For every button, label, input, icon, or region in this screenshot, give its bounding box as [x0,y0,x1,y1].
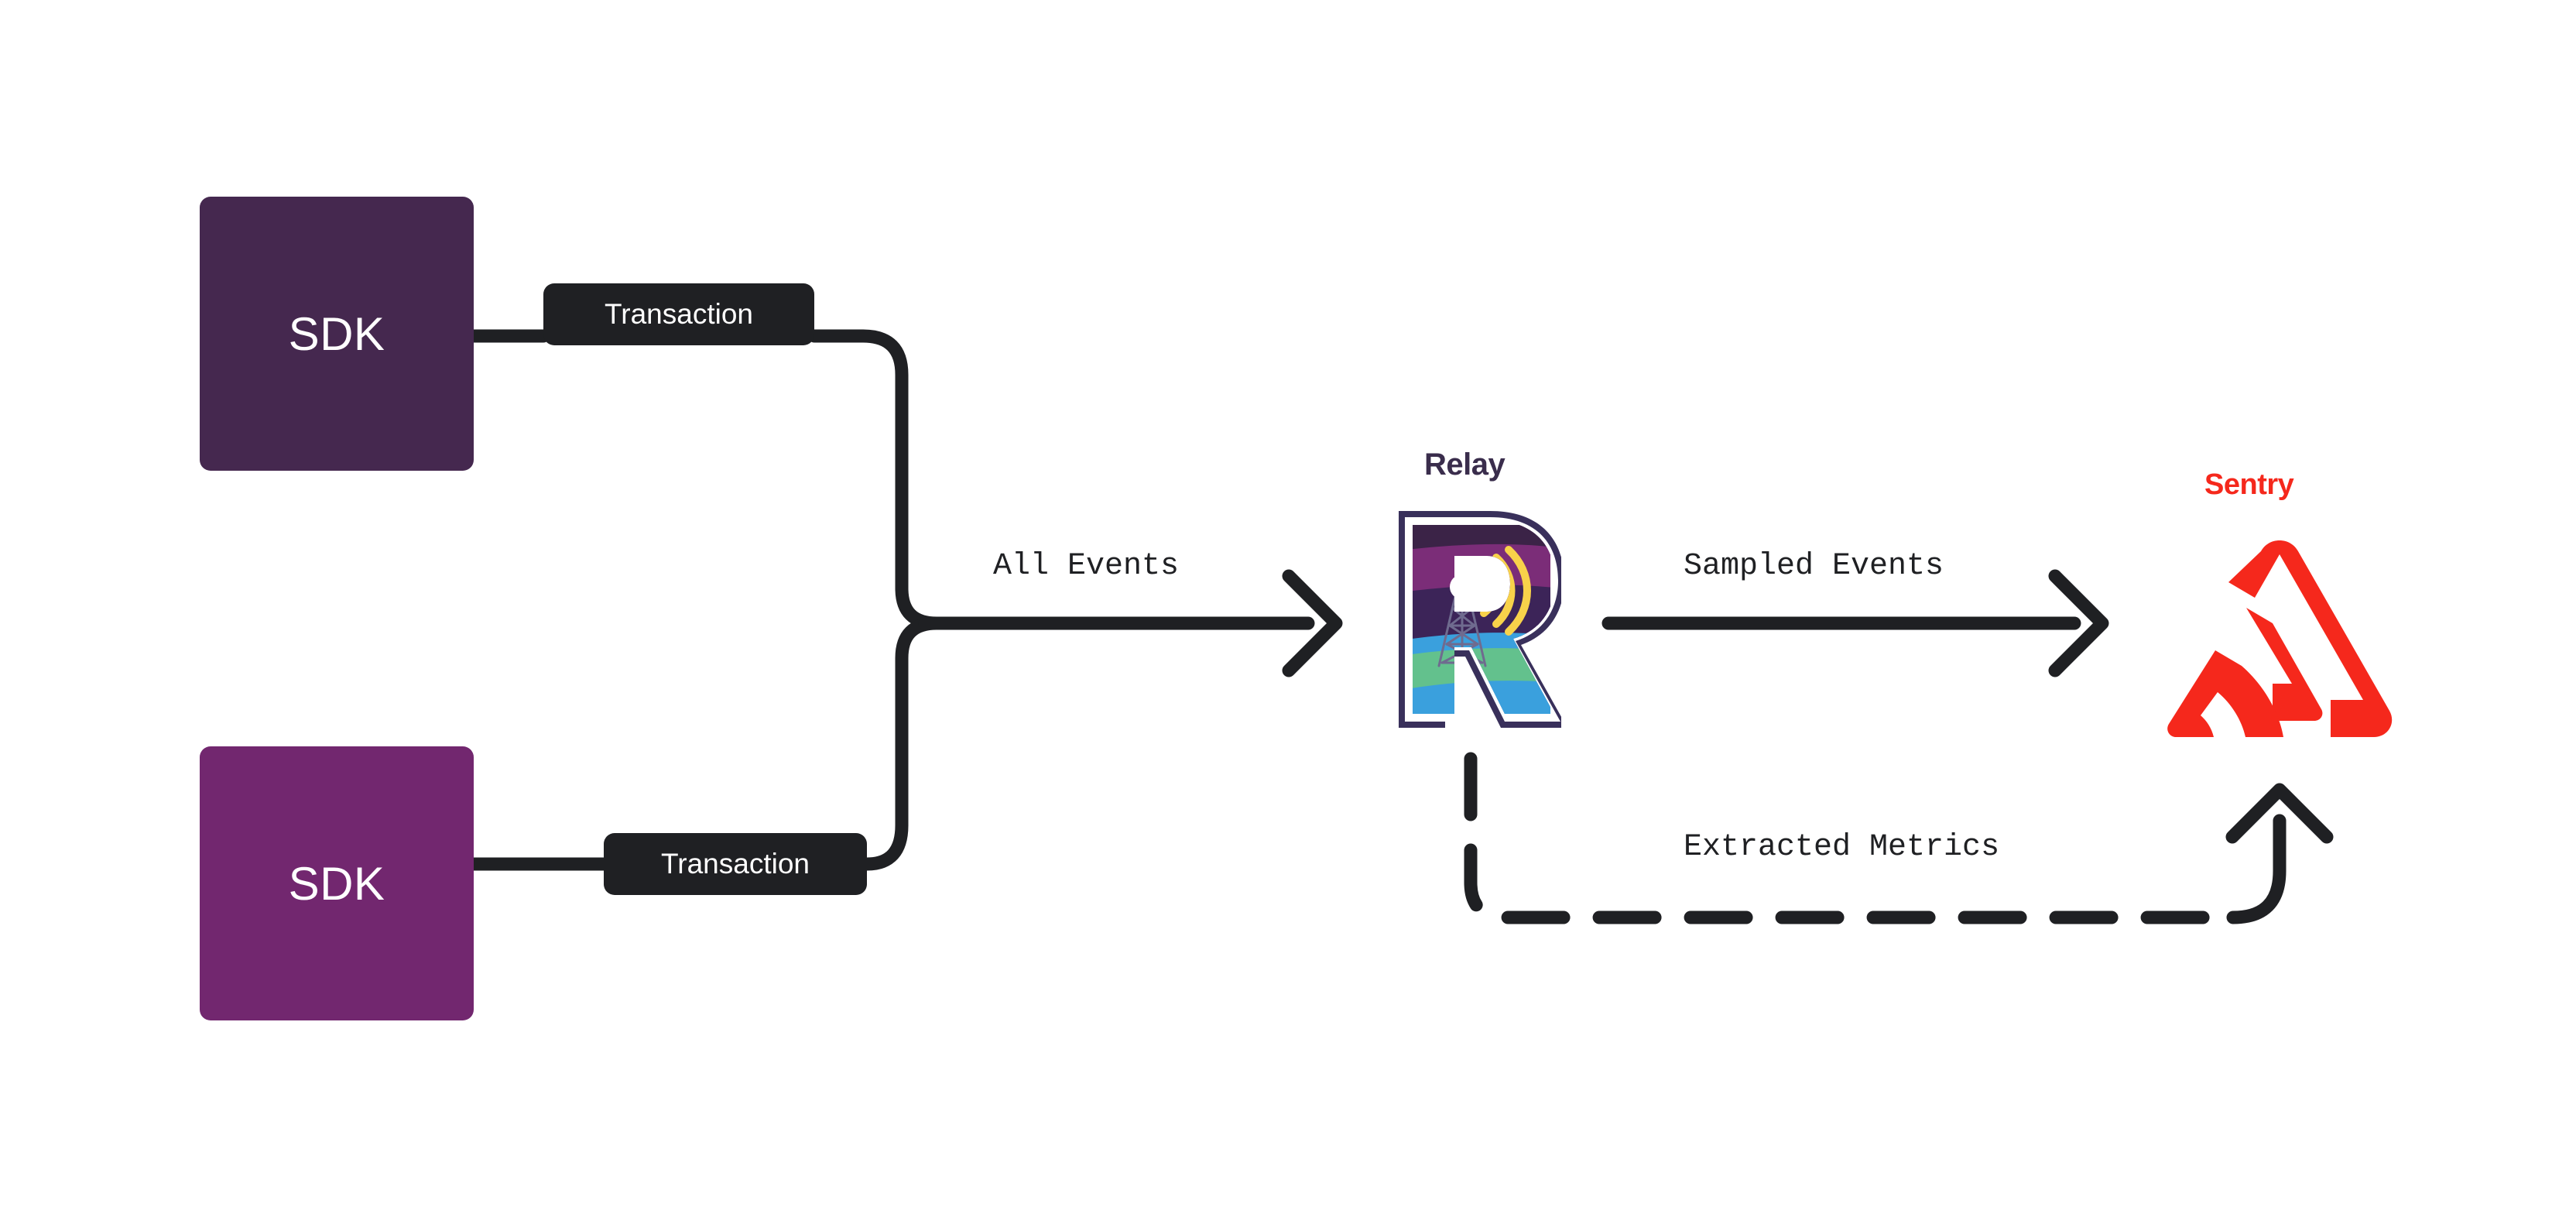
edge-label-extracted-metrics: Extracted Metrics [1684,830,1999,865]
sdk-node-2-label: SDK [289,857,385,910]
transaction-chip-1[interactable]: Transaction [543,283,814,345]
sdk-node-1-label: SDK [289,307,385,361]
sentry-triangle-icon[interactable] [2163,534,2396,743]
diagram-canvas: SDK SDK Transaction Transaction All Even… [0,0,2576,1214]
transaction-chip-1-label: Transaction [605,298,753,331]
relay-r-tower-icon[interactable] [1391,503,1561,736]
wire-transaction1-to-junction [814,336,937,623]
wire-transaction2-to-junction [867,623,937,864]
relay-title: Relay [1424,448,1505,482]
relay-logo-beacon [1450,574,1475,599]
transaction-chip-2-label: Transaction [661,848,810,880]
sdk-node-2[interactable]: SDK [200,746,474,1020]
sdk-node-1[interactable]: SDK [200,197,474,471]
sentry-logo-mark [2167,540,2392,737]
transaction-chip-2[interactable]: Transaction [604,833,867,895]
edge-label-sampled-events: Sampled Events [1684,549,1944,584]
edge-label-all-events: All Events [993,549,1179,584]
sentry-title: Sentry [2204,468,2293,502]
relay-logo-scene [1406,519,1561,728]
